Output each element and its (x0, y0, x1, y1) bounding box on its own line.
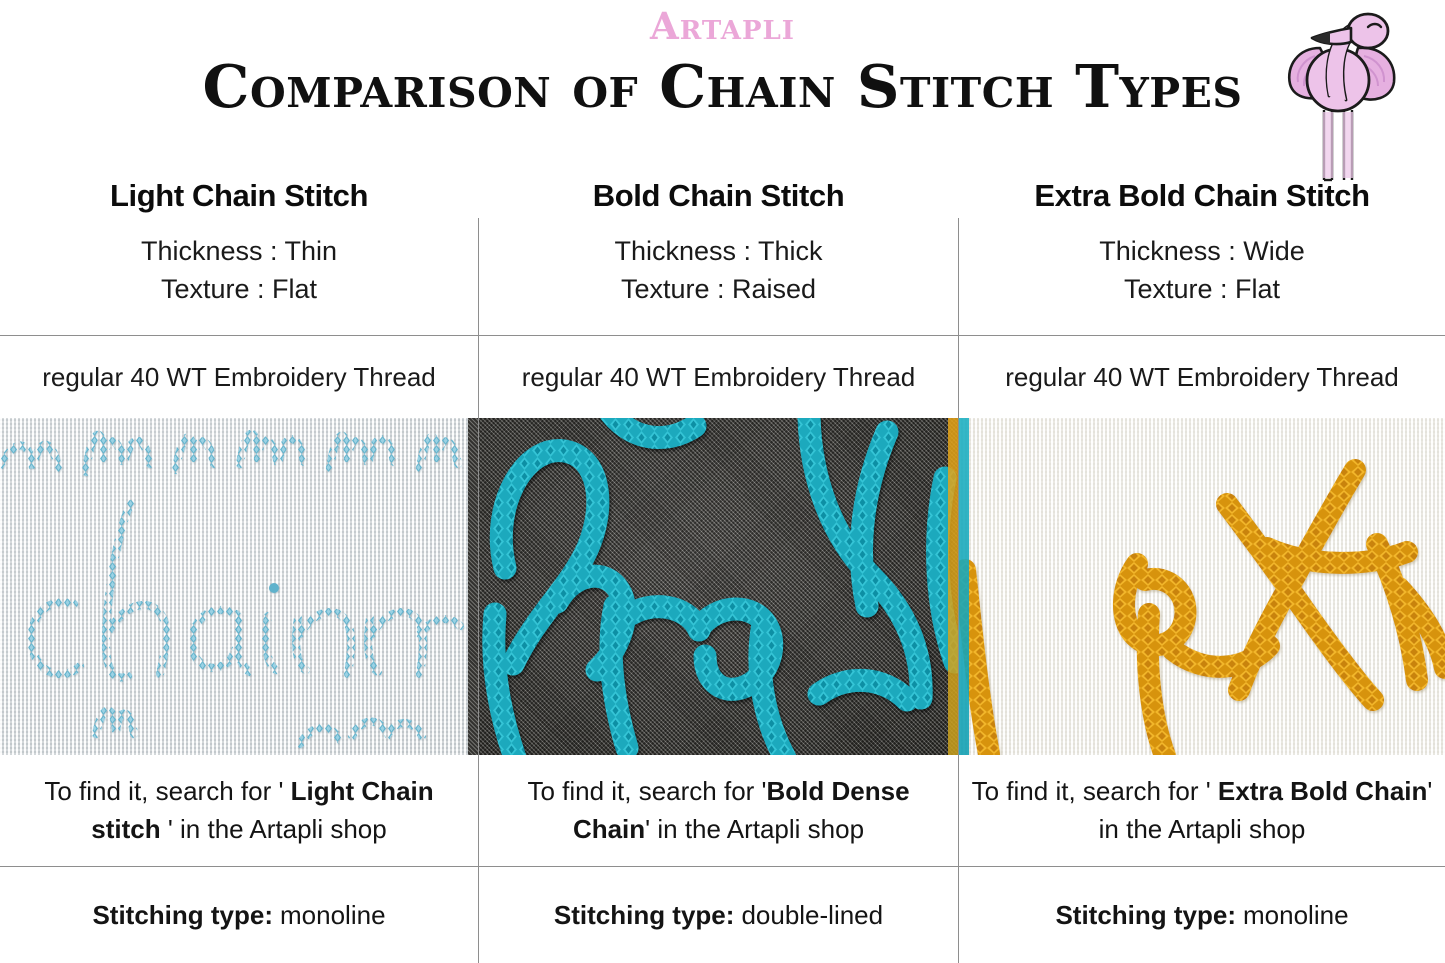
sample-photo-cell (479, 418, 958, 755)
spec-texture: Texture : Flat (959, 270, 1445, 308)
column-header-label: Bold Chain Stitch (593, 178, 845, 214)
where-to-find-cell: To find it, search for ' Light Chain sti… (0, 755, 478, 866)
spec-thickness: Thickness : Wide (959, 232, 1445, 270)
sample-photo-cell (959, 418, 1445, 755)
spec-block: Thickness : Thin Texture : Flat (0, 232, 478, 332)
column-header: Bold Chain Stitch (479, 166, 958, 226)
spec-block: Thickness : Thick Texture : Raised (479, 232, 958, 332)
page-title: Comparison of Chain Stitch Types (0, 56, 1445, 118)
bold-chain-stitch-sample (479, 418, 958, 755)
stitch-artwork (0, 418, 478, 755)
column-header: Extra Bold Chain Stitch (959, 166, 1445, 226)
where-to-find-cell: To find it, search for 'Bold Dense Chain… (479, 755, 958, 866)
spec-texture: Texture : Flat (0, 270, 478, 308)
find-suffix: ' in the Artapli shop (161, 814, 387, 844)
find-prefix: To find it, search for ' (44, 776, 290, 806)
column-bold-chain-stitch: Bold Chain Stitch Thickness : Thick Text… (479, 166, 958, 963)
brand-logo: Artapli (0, 8, 1445, 45)
adjacent-photo-edge (468, 418, 478, 755)
stitching-type-value: monoline (1236, 900, 1349, 931)
stitching-type-label: Stitching type: (92, 900, 273, 931)
where-to-find-text: To find it, search for ' Light Chain sti… (12, 773, 466, 848)
spec-texture: Texture : Raised (479, 270, 958, 308)
spec-thickness: Thickness : Thick (479, 232, 958, 270)
stitching-type-value: double-lined (734, 900, 883, 931)
where-to-find-cell: To find it, search for ' Extra Bold Chai… (959, 755, 1445, 866)
comparison-table: Light Chain Stitch Thickness : Thin Text… (0, 166, 1445, 963)
stitching-type-value: monoline (273, 900, 386, 931)
find-prefix: To find it, search for ' (527, 776, 766, 806)
find-search-term: Extra Bold Chain (1218, 776, 1427, 806)
stitch-artwork (479, 418, 958, 755)
find-suffix: ' in the Artapli shop (645, 814, 864, 844)
find-prefix: To find it, search for ' (972, 776, 1218, 806)
thread-info: regular 40 WT Embroidery Thread (959, 336, 1445, 418)
column-header-label: Extra Bold Chain Stitch (1034, 178, 1369, 214)
stitch-artwork (959, 418, 1445, 755)
stitching-type-cell: Stitching type: double-lined (479, 867, 958, 963)
extra-bold-chain-stitch-sample (959, 418, 1445, 755)
adjacent-photo-edge (959, 418, 969, 755)
stitching-type-cell: Stitching type: monoline (959, 867, 1445, 963)
adjacent-photo-edge (948, 418, 958, 755)
column-extra-bold-chain-stitch: Extra Bold Chain Stitch Thickness : Wide… (959, 166, 1445, 963)
column-header-label: Light Chain Stitch (110, 178, 368, 214)
spec-block: Thickness : Wide Texture : Flat (959, 232, 1445, 332)
infographic-page: Artapli Comparison of Chain Stitch Types (0, 0, 1445, 963)
column-header: Light Chain Stitch (0, 166, 478, 226)
spec-thickness: Thickness : Thin (0, 232, 478, 270)
column-light-chain-stitch: Light Chain Stitch Thickness : Thin Text… (0, 166, 478, 963)
stitching-type-label: Stitching type: (554, 900, 735, 931)
where-to-find-text: To find it, search for 'Bold Dense Chain… (491, 773, 946, 848)
where-to-find-text: To find it, search for ' Extra Bold Chai… (971, 773, 1433, 848)
thread-info: regular 40 WT Embroidery Thread (0, 336, 478, 418)
thread-info: regular 40 WT Embroidery Thread (479, 336, 958, 418)
stitching-type-cell: Stitching type: monoline (0, 867, 478, 963)
light-chain-stitch-sample (0, 418, 478, 755)
sample-photo-cell (0, 418, 478, 755)
stitching-type-label: Stitching type: (1055, 900, 1236, 931)
